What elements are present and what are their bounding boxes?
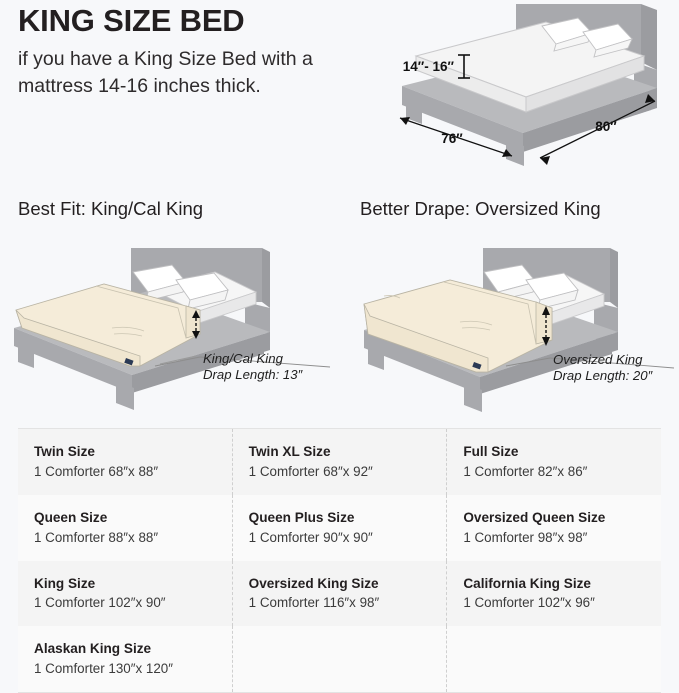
size-cell-detail: 1 Comforter 88″x 88″ (34, 528, 232, 548)
hero-width-dimension-label: 76″ (441, 131, 463, 146)
hero-height-dimension-label: 14″- 16″ (403, 59, 455, 74)
table-row: Alaskan King Size1 Comforter 130″x 120″ (18, 626, 661, 692)
section-heading-better-drape: Better Drape: Oversized King (360, 198, 601, 220)
size-cell: Twin Size1 Comforter 68″x 88″ (18, 429, 232, 495)
page-title: KING SIZE BED (18, 4, 338, 37)
table-row: Queen Size1 Comforter 88″x 88″Queen Plus… (18, 495, 661, 561)
size-cell-detail: 1 Comforter 102″x 90″ (34, 593, 232, 613)
best-fit-callout-line1: King/Cal King (203, 351, 284, 366)
comforter-size-table: Twin Size1 Comforter 68″x 88″Twin XL Siz… (18, 428, 661, 693)
size-cell: Oversized King Size1 Comforter 116″x 98″ (232, 561, 447, 627)
size-cell: Twin XL Size1 Comforter 68″x 92″ (232, 429, 447, 495)
size-cell-detail: 1 Comforter 82″x 86″ (463, 462, 661, 482)
better-drape-callout-line1: Oversized King (553, 352, 643, 367)
hero-section: KING SIZE BED if you have a King Size Be… (0, 0, 679, 185)
size-cell-title: Twin Size (34, 442, 232, 462)
intro-block: KING SIZE BED if you have a King Size Be… (18, 4, 338, 99)
table-row: King Size1 Comforter 102″x 90″Oversized … (18, 561, 661, 627)
size-cell-empty (232, 626, 447, 692)
table-row: Twin Size1 Comforter 68″x 88″Twin XL Siz… (18, 429, 661, 495)
size-cell-title: King Size (34, 574, 232, 594)
size-cell-detail: 1 Comforter 68″x 92″ (249, 462, 447, 482)
size-cell-title: Queen Size (34, 508, 232, 528)
best-fit-bed-illustration: King/Cal King Drap Length: 13″ (0, 238, 345, 418)
size-cell-detail: 1 Comforter 116″x 98″ (249, 593, 447, 613)
best-fit-callout-line2: Drap Length: 13″ (203, 367, 304, 382)
size-cell-title: California King Size (463, 574, 661, 594)
king-size-bed-diagram: 14″- 16″ 76″ 80″ (330, 0, 679, 180)
size-cell-title: Full Size (463, 442, 661, 462)
size-cell-title: Alaskan King Size (34, 639, 232, 659)
size-cell-detail: 1 Comforter 98″x 98″ (463, 528, 661, 548)
size-cell-title: Queen Plus Size (249, 508, 447, 528)
section-heading-best-fit: Best Fit: King/Cal King (18, 198, 203, 220)
size-cell-detail: 1 Comforter 68″x 88″ (34, 462, 232, 482)
size-cell: Oversized Queen Size1 Comforter 98″x 98″ (447, 495, 661, 561)
intro-description: if you have a King Size Bed with a mattr… (18, 46, 338, 98)
better-drape-bed-diagram: Oversized King Drap Length: 20″ (338, 238, 679, 418)
size-cell: Alaskan King Size1 Comforter 130″x 120″ (18, 626, 232, 692)
size-cell-title: Oversized Queen Size (463, 508, 661, 528)
size-cell: King Size1 Comforter 102″x 90″ (18, 561, 232, 627)
size-cell-detail: 1 Comforter 130″x 120″ (34, 659, 232, 679)
size-cell-detail: 1 Comforter 102″x 96″ (463, 593, 661, 613)
size-cell: Queen Plus Size1 Comforter 90″x 90″ (232, 495, 447, 561)
size-cell-empty (447, 626, 661, 692)
king-bed-illustration: 14″- 16″ 76″ 80″ (330, 0, 679, 180)
size-cell-title: Oversized King Size (249, 574, 447, 594)
size-cell: California King Size1 Comforter 102″x 96… (447, 561, 661, 627)
size-cell-title: Twin XL Size (249, 442, 447, 462)
better-drape-bed-illustration: Oversized King Drap Length: 20″ (338, 238, 679, 418)
size-cell-detail: 1 Comforter 90″x 90″ (249, 528, 447, 548)
best-fit-bed-diagram: King/Cal King Drap Length: 13″ (0, 238, 345, 418)
size-cell: Full Size1 Comforter 82″x 86″ (447, 429, 661, 495)
better-drape-callout-line2: Drap Length: 20″ (553, 368, 654, 383)
size-cell: Queen Size1 Comforter 88″x 88″ (18, 495, 232, 561)
hero-depth-dimension-label: 80″ (595, 119, 617, 134)
